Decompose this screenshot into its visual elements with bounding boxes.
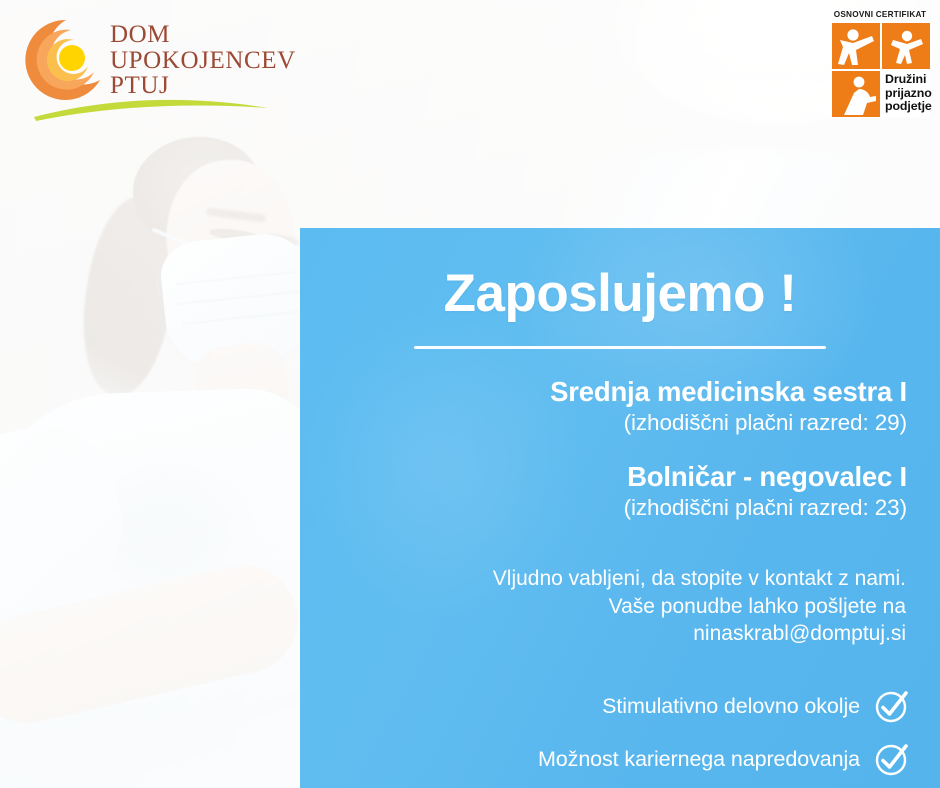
benefit-label: Stimulativno delovno okolje <box>602 693 860 719</box>
contact-instruction-line: Vaše ponudbe lahko pošljete na <box>330 593 906 621</box>
job-title: Srednja medicinska sestra I <box>330 375 907 408</box>
contact-block: Vljudno vabljeni, da stopite v kontakt z… <box>330 565 910 648</box>
logo-swoosh-icon <box>32 90 272 124</box>
certificate-figure-child-icon <box>882 23 930 69</box>
logo-wordmark: DOM UPOKOJENCEV PTUJ <box>110 22 296 99</box>
certificate-figure-parent-child-icon <box>832 71 880 117</box>
list-item: Stimulativno delovno okolje <box>330 688 910 724</box>
logo-line-1: DOM <box>110 22 296 48</box>
certificate-grid: Družini prijazno podjetje <box>831 22 929 118</box>
family-friendly-certificate-badge: OSNOVNI CERTIFIKAT <box>828 10 932 120</box>
contact-email[interactable]: ninaskrabl@domptuj.si <box>330 620 906 648</box>
check-circle-icon <box>874 741 910 777</box>
job-listing-item: Bolničar - negovalec I (izhodiščni plačn… <box>330 460 907 522</box>
logo-sun-core <box>59 45 85 71</box>
job-listings: Srednja medicinska sestra I (izhodiščni … <box>330 375 910 522</box>
logo-line-2: UPOKOJENCEV <box>110 48 296 74</box>
list-item: Možnost kariernega napredovanja <box>330 741 910 777</box>
certificate-wordmark: Družini prijazno podjetje <box>882 71 930 117</box>
job-pay-grade: (izhodiščni plačni razred: 29) <box>330 408 907 437</box>
job-listing-item: Srednja medicinska sestra I (izhodiščni … <box>330 375 907 437</box>
certificate-line-2: prijazno <box>885 87 930 101</box>
benefit-label: Možnost kariernega napredovanja <box>538 746 860 772</box>
check-circle-icon <box>874 688 910 724</box>
job-title: Bolničar - negovalec I <box>330 460 907 493</box>
contact-invitation-line: Vljudno vabljeni, da stopite v kontakt z… <box>330 565 906 593</box>
job-pay-grade: (izhodiščni plačni razred: 23) <box>330 493 907 522</box>
title-divider <box>414 346 826 349</box>
job-advert-panel: Zaposlujemo ! Srednja medicinska sestra … <box>300 228 940 788</box>
recruitment-poster: DOM UPOKOJENCEV PTUJ OSNOVNI CERTIFIKAT <box>0 0 940 788</box>
certificate-line-3: podjetje <box>885 100 930 114</box>
certificate-title: OSNOVNI CERTIFIKAT <box>828 10 932 19</box>
certificate-line-1: Družini <box>885 73 930 87</box>
page-title: Zaposlujemo ! <box>330 264 910 324</box>
benefits-list: Stimulativno delovno okolje Možnost kari… <box>330 688 910 777</box>
certificate-figure-adult-icon <box>832 23 880 69</box>
company-logo: DOM UPOKOJENCEV PTUJ <box>22 14 274 118</box>
